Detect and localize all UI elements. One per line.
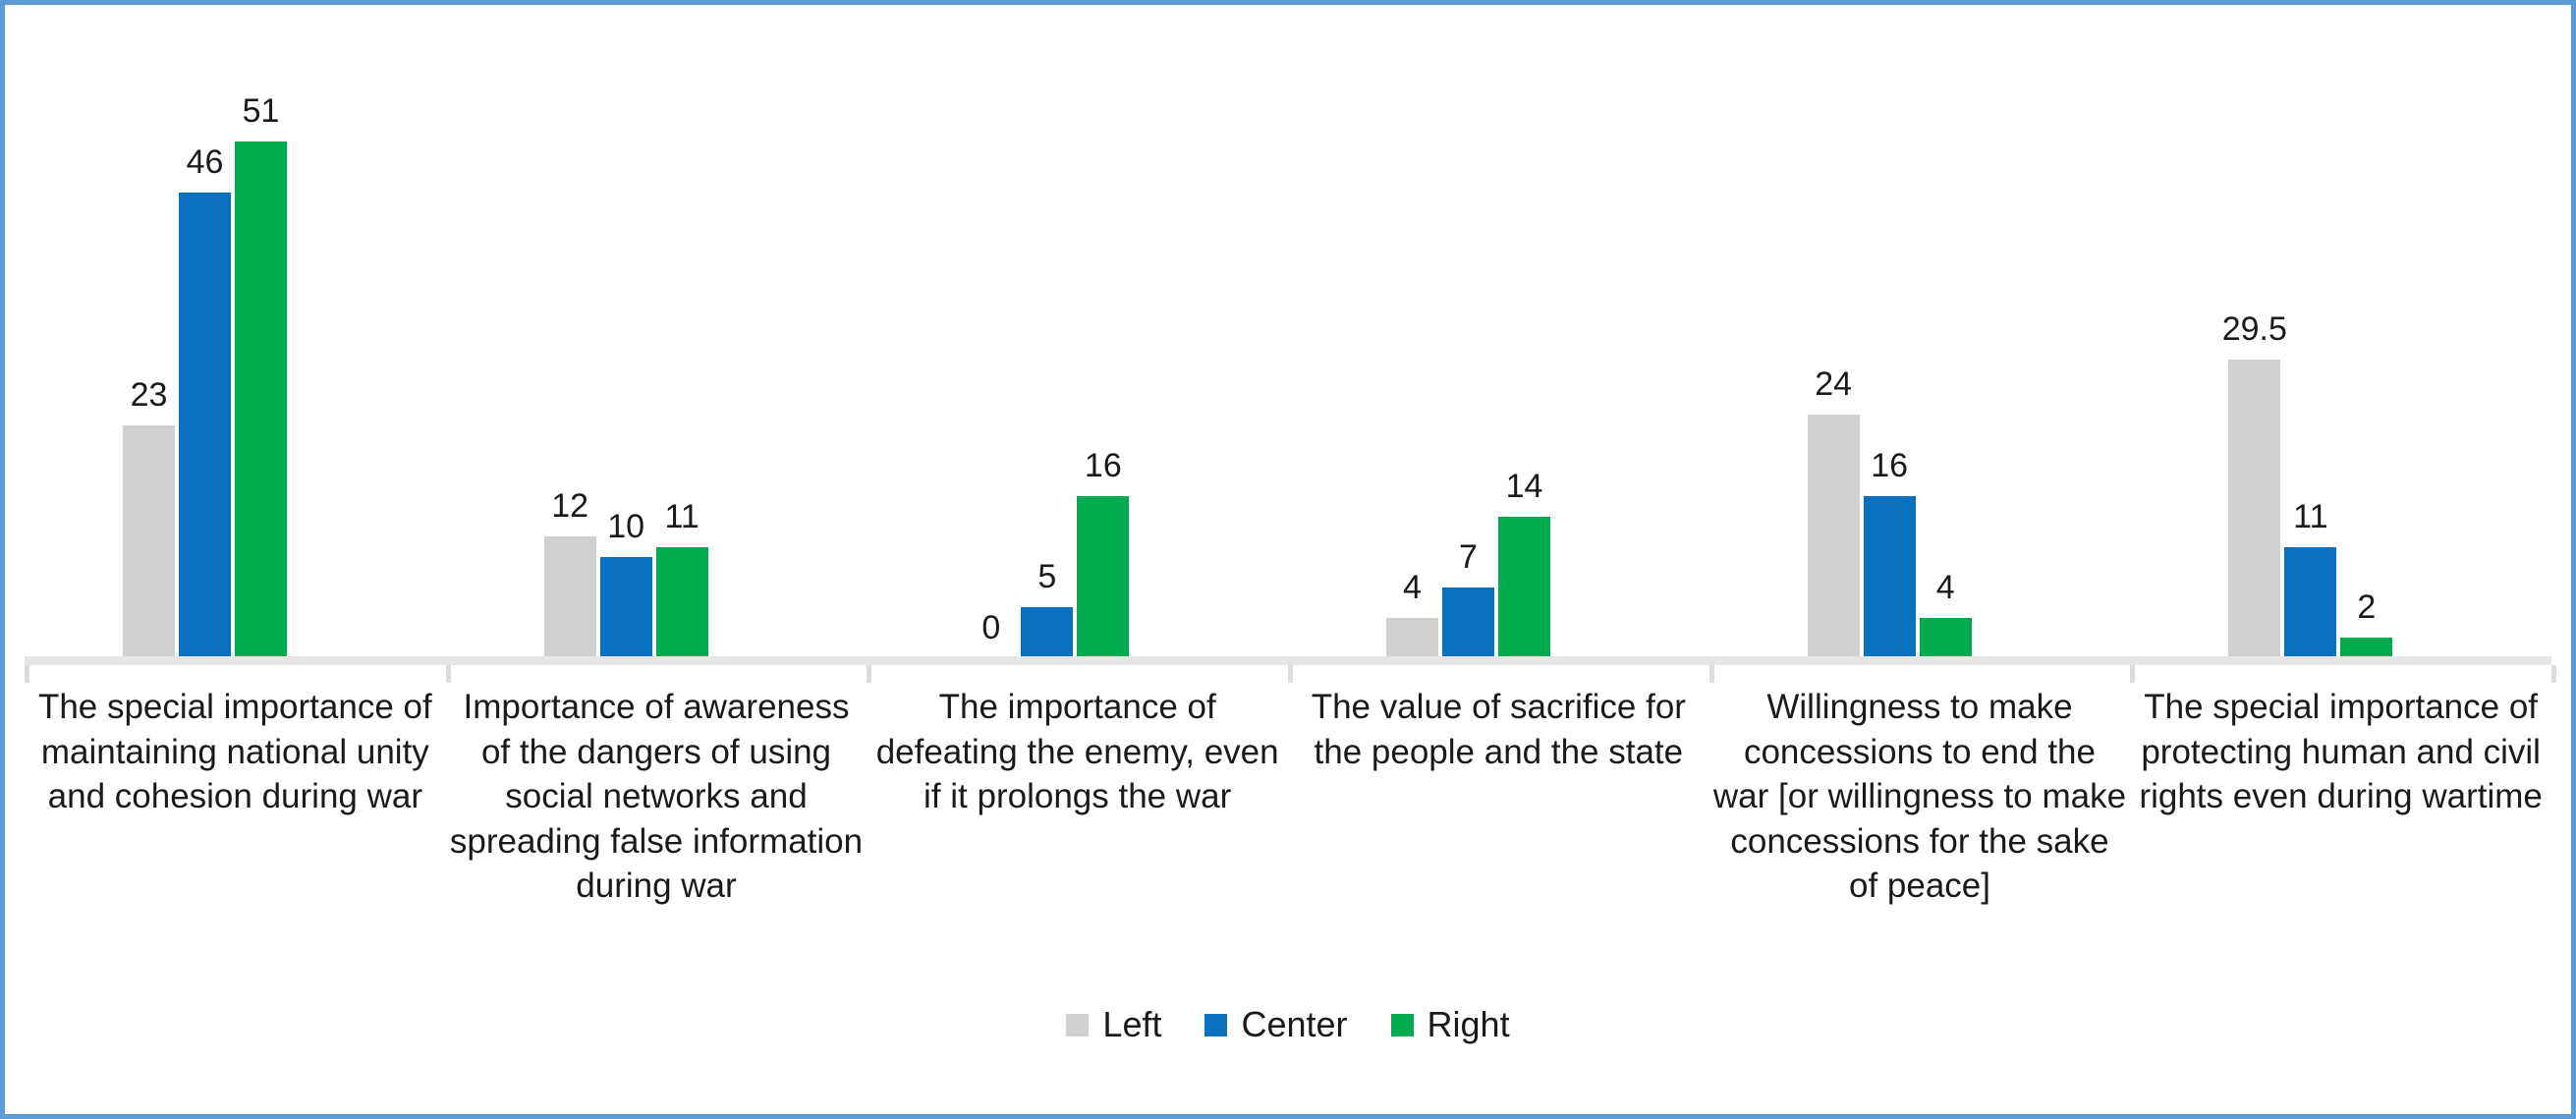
bar-value-label: 29.5: [2222, 312, 2287, 346]
bar-slot: 5: [1021, 15, 1073, 658]
bar-value-label: 7: [1459, 540, 1478, 574]
bar-value-label: 5: [1037, 560, 1056, 593]
bar-slot: 4: [1386, 15, 1438, 658]
axis-tick: [1288, 665, 1293, 683]
bar-group: 234651: [25, 15, 446, 658]
legend-label: Center: [1241, 1007, 1347, 1042]
bar-slot: 24: [1808, 15, 1860, 658]
bar-center[interactable]: [600, 557, 652, 658]
bar-slot: 14: [1498, 15, 1550, 658]
x-axis-line: [25, 656, 2551, 665]
bar-group: 0516: [867, 15, 1288, 658]
category-label: The special importance of protecting hum…: [2134, 685, 2548, 819]
bar-slot: 0: [965, 15, 1017, 658]
bar-value-label: 46: [187, 145, 224, 179]
bar-value-label: 4: [1403, 571, 1422, 604]
bar-value-label: 14: [1506, 470, 1543, 503]
bar-right[interactable]: [2340, 638, 2392, 658]
chart-frame: 234651121011051647142416429.5112 The spe…: [0, 0, 2576, 1119]
bar-value-label: 11: [665, 500, 700, 533]
bar-slot: 12: [544, 15, 596, 658]
bar-right[interactable]: [656, 547, 708, 658]
bar-value-label: 2: [2357, 590, 2376, 624]
legend-item-right[interactable]: Right: [1391, 1007, 1510, 1042]
bar-value-label: 16: [1871, 449, 1908, 482]
bar-center[interactable]: [1442, 587, 1494, 658]
bar-slot: 4: [1920, 15, 1972, 658]
bar-value-label: 24: [1815, 367, 1852, 401]
bar-slot: 29.5: [2228, 15, 2280, 658]
bar-value-label: 11: [2293, 500, 2327, 533]
bar-center[interactable]: [1021, 607, 1073, 658]
category-label: The importance of defeating the enemy, e…: [870, 685, 1284, 819]
bar-group: 121011: [446, 15, 868, 658]
axis-tick: [867, 665, 871, 683]
bars-layer: 234651121011051647142416429.5112: [25, 15, 2551, 658]
bar-left[interactable]: [1808, 415, 1860, 658]
bar-slot: 23: [123, 15, 175, 658]
bar-right[interactable]: [1920, 618, 1972, 658]
bar-group: 4714: [1288, 15, 1709, 658]
category-label: The value of sacrifice for the people an…: [1292, 685, 1706, 774]
bar-value-label: 51: [243, 94, 280, 128]
bar-group: 24164: [1709, 15, 2131, 658]
bar-left[interactable]: [1386, 618, 1438, 658]
category-labels: The special importance of maintaining na…: [25, 685, 2551, 979]
axis-tick: [2130, 665, 2135, 683]
bar-slot: 16: [1077, 15, 1129, 658]
bar-value-label: 16: [1085, 449, 1122, 482]
bar-slot: 10: [600, 15, 652, 658]
bar-value-label: 4: [1936, 571, 1955, 604]
bar-left[interactable]: [544, 536, 596, 658]
chart-plot: 234651121011051647142416429.5112 The spe…: [5, 5, 2571, 1114]
bar-right[interactable]: [235, 141, 287, 658]
bar-slot: 11: [656, 15, 708, 658]
bar-slot: 2: [2340, 15, 2392, 658]
axis-tick-edge: [25, 665, 29, 683]
legend-item-left[interactable]: Left: [1066, 1007, 1161, 1042]
axis-tick: [1709, 665, 1714, 683]
legend-swatch-icon: [1066, 1014, 1089, 1036]
legend-swatch-icon: [1391, 1014, 1414, 1036]
bar-center[interactable]: [179, 193, 231, 658]
axis-tick-edge: [2551, 665, 2556, 683]
axis-tick: [446, 665, 451, 683]
category-label: The special importance of maintaining na…: [28, 685, 442, 819]
chart-legend: LeftCenterRight: [5, 1007, 2571, 1042]
bar-right[interactable]: [1498, 517, 1550, 658]
legend-label: Left: [1102, 1007, 1161, 1042]
bar-center[interactable]: [1864, 496, 1916, 658]
bar-slot: 51: [235, 15, 287, 658]
legend-label: Right: [1428, 1007, 1510, 1042]
bar-center[interactable]: [2284, 547, 2336, 658]
bar-left[interactable]: [123, 425, 175, 658]
bar-right[interactable]: [1077, 496, 1129, 658]
bar-value-label: 12: [551, 489, 588, 523]
category-label: Importance of awareness of the dangers o…: [450, 685, 864, 909]
bar-left[interactable]: [2228, 360, 2280, 658]
bar-value-label: 0: [981, 611, 1000, 644]
bar-slot: 16: [1864, 15, 1916, 658]
legend-swatch-icon: [1204, 1014, 1227, 1036]
bar-value-label: 10: [607, 510, 644, 543]
legend-item-center[interactable]: Center: [1204, 1007, 1347, 1042]
category-label: Willingness to make concessions to end t…: [1713, 685, 2127, 909]
bar-slot: 7: [1442, 15, 1494, 658]
bar-slot: 46: [179, 15, 231, 658]
bar-group: 29.5112: [2130, 15, 2551, 658]
bar-slot: 11: [2284, 15, 2336, 658]
bar-value-label: 23: [131, 378, 168, 412]
